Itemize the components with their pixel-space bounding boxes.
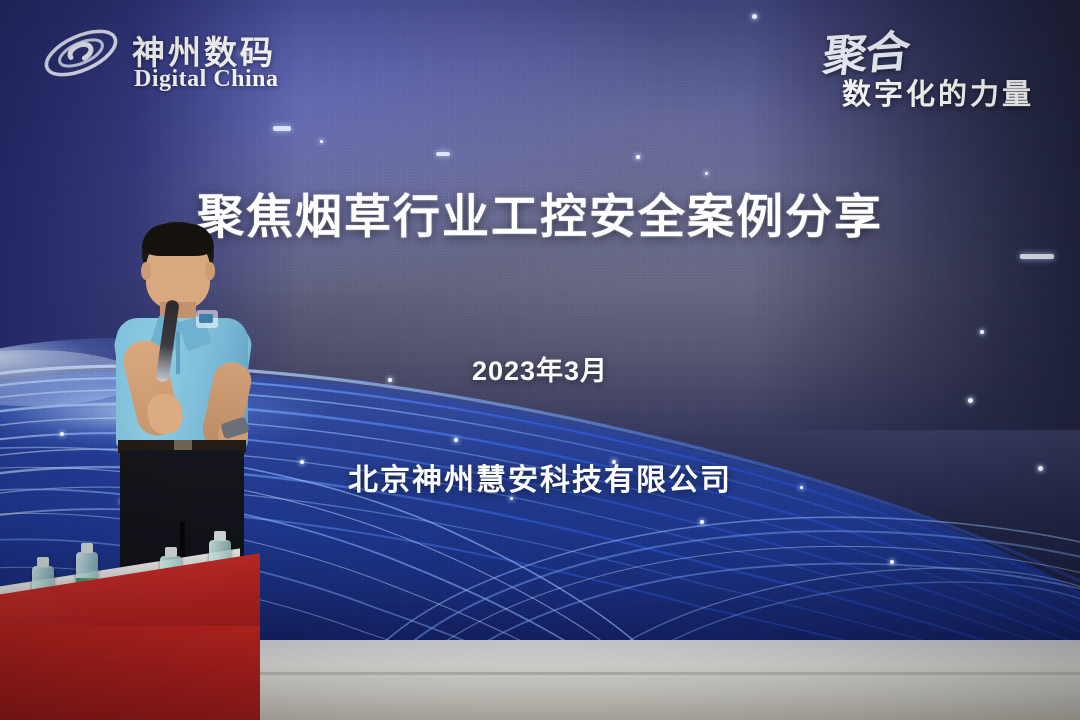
speaker-ear-right bbox=[205, 262, 215, 280]
brand-logo: 神州数码 Digital China bbox=[40, 18, 290, 90]
bottle-cap bbox=[37, 557, 49, 567]
speaker-hair-top bbox=[142, 224, 214, 256]
brand-name-en: Digital China bbox=[134, 66, 279, 93]
event-logo: 聚合 数字化的力量 bbox=[802, 18, 1058, 114]
speaker-shirt-placket bbox=[176, 332, 180, 374]
event-subtitle: 数字化的力量 bbox=[842, 71, 1034, 113]
bottle-cap bbox=[165, 547, 177, 557]
bottle-cap bbox=[214, 531, 226, 541]
conference-photo: 神州数码 Digital China 聚合 数字化的力量 聚焦烟草行业工控安全案… bbox=[0, 0, 1080, 720]
shirt-logo-badge-inner-icon bbox=[199, 314, 213, 323]
galaxy-swirl-logo-icon bbox=[40, 22, 122, 84]
table-skirt-lower bbox=[0, 626, 260, 720]
speaker-ear-left bbox=[141, 262, 151, 280]
bottle-cap bbox=[81, 543, 93, 553]
